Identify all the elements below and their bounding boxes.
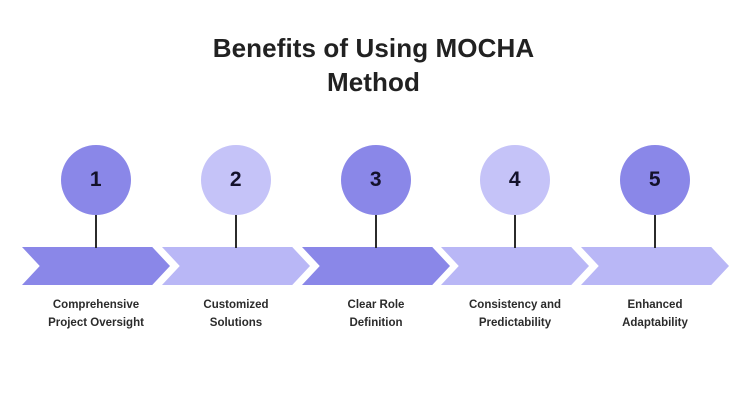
step-number-circle-4: 4 xyxy=(480,145,550,215)
step-number-circle-2: 2 xyxy=(201,145,271,215)
step-number-circle-5: 5 xyxy=(620,145,690,215)
step-chevron-4 xyxy=(441,247,589,285)
process-steps-row: 1 Comprehensive Project Oversight 2 Cust… xyxy=(0,0,747,420)
process-step-5: 5 Enhanced Adaptability xyxy=(585,0,725,420)
step-caption-5: Enhanced Adaptability xyxy=(579,296,731,333)
step-connector-line-3 xyxy=(375,212,377,248)
process-step-4: 4 Consistency and Predictability xyxy=(445,0,585,420)
step-connector-line-1 xyxy=(95,212,97,248)
infographic-canvas: Benefits of Using MOCHA Method 1 Compreh… xyxy=(0,0,747,420)
step-connector-line-5 xyxy=(654,212,656,248)
step-number-label-1: 1 xyxy=(90,168,102,192)
process-step-1: 1 Comprehensive Project Oversight xyxy=(26,0,166,420)
step-number-circle-3: 3 xyxy=(341,145,411,215)
step-chevron-5 xyxy=(581,247,729,285)
step-connector-line-4 xyxy=(514,212,516,248)
step-caption-4: Consistency and Predictability xyxy=(439,296,591,333)
step-number-label-3: 3 xyxy=(370,168,382,192)
step-number-label-5: 5 xyxy=(649,168,661,192)
process-step-3: 3 Clear Role Definition xyxy=(306,0,446,420)
step-chevron-1 xyxy=(22,247,170,285)
step-chevron-3 xyxy=(302,247,450,285)
step-caption-1: Comprehensive Project Oversight xyxy=(20,296,172,333)
step-chevron-2 xyxy=(162,247,310,285)
step-number-label-4: 4 xyxy=(509,168,521,192)
process-step-2: 2 Customized Solutions xyxy=(166,0,306,420)
step-connector-line-2 xyxy=(235,212,237,248)
step-number-label-2: 2 xyxy=(230,168,242,192)
step-number-circle-1: 1 xyxy=(61,145,131,215)
step-caption-3: Clear Role Definition xyxy=(300,296,452,333)
step-caption-2: Customized Solutions xyxy=(160,296,312,333)
